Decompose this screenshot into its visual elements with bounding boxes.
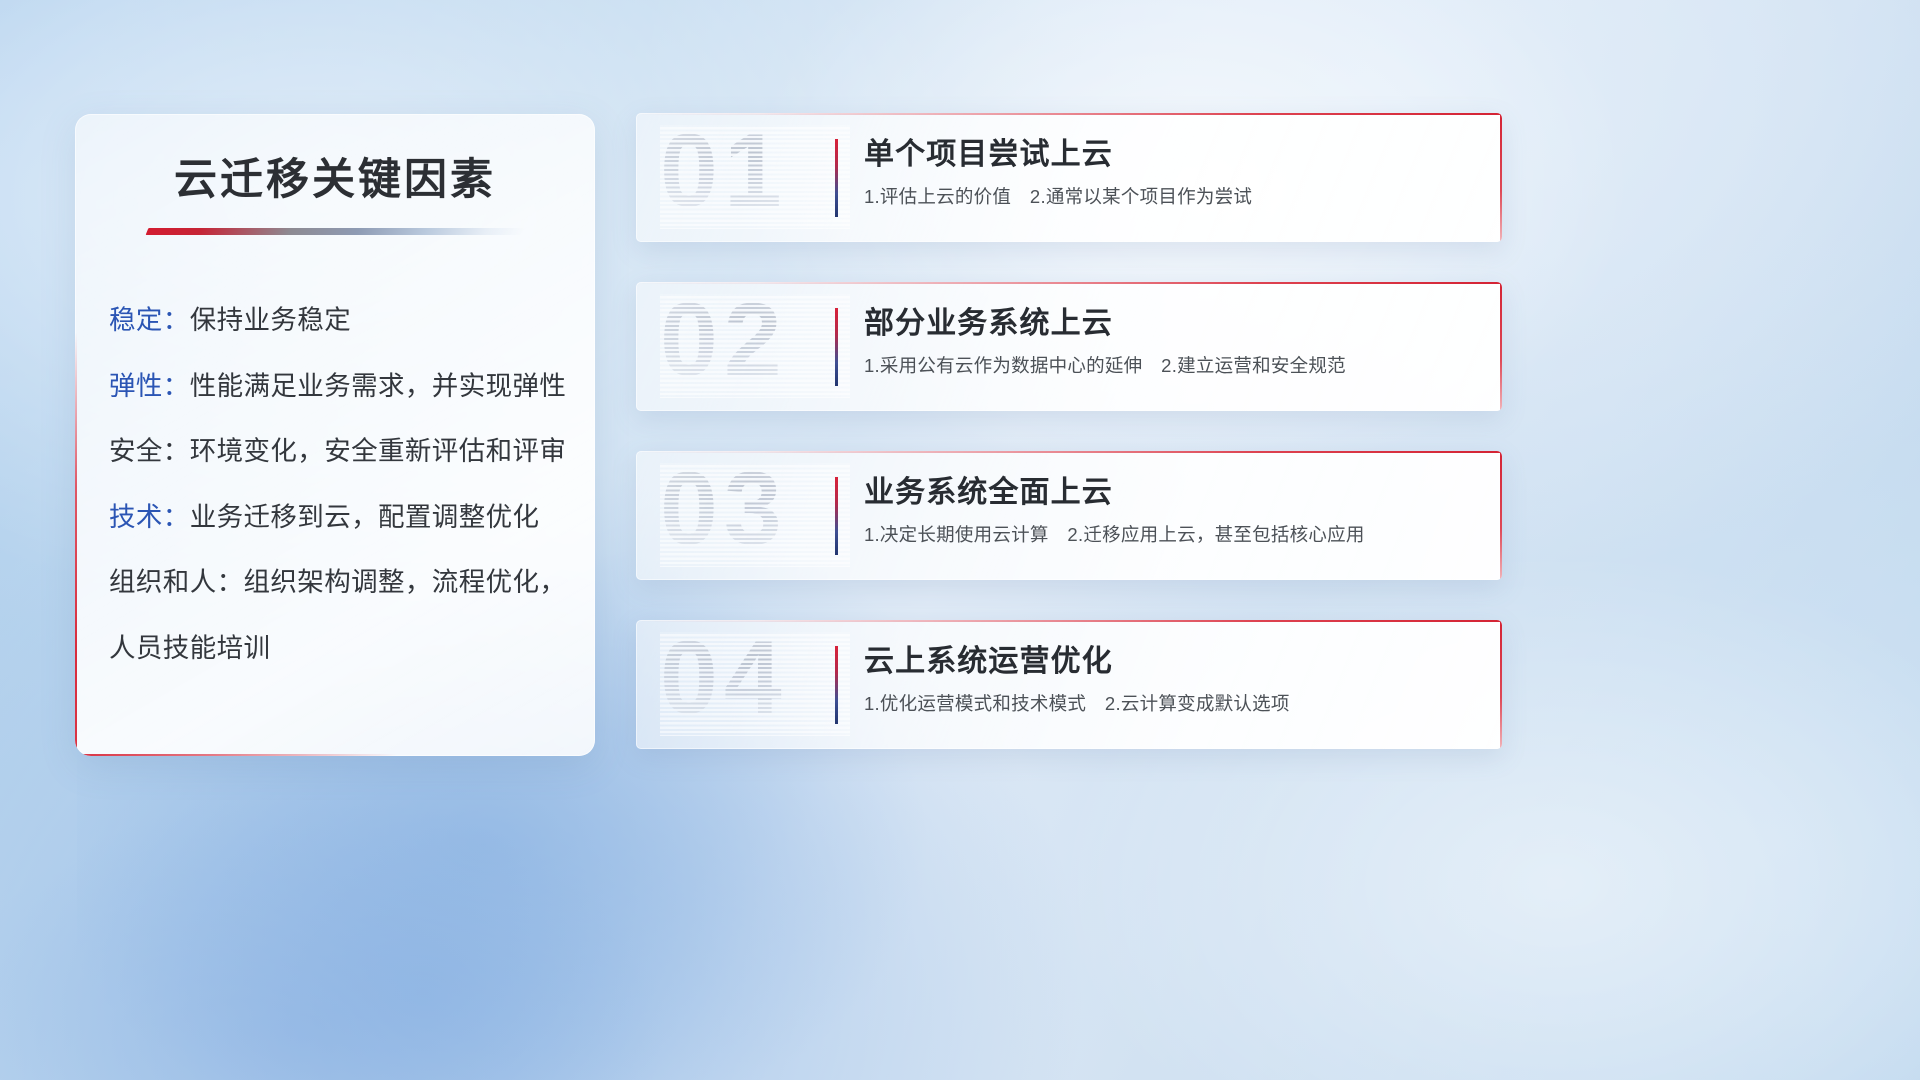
card-top-accent-rule xyxy=(636,113,1502,115)
card-top-accent-rule xyxy=(636,282,1502,284)
card-divider-bar xyxy=(835,139,838,217)
card-right-accent-rule xyxy=(1500,282,1502,411)
panel-left-accent-border xyxy=(75,114,77,756)
stage-card-01[interactable]: 01 单个项目尝试上云 1.评估上云的价值 2.通常以某个项目作为尝试 xyxy=(636,113,1502,242)
stage-card-03[interactable]: 03 业务系统全面上云 1.决定长期使用云计算 2.迁移应用上云，甚至包括核心应… xyxy=(636,451,1502,580)
key-factors-panel: 云迁移关键因素 稳定：保持业务稳定 弹性：性能满足业务需求，并实现弹性 安全：环… xyxy=(75,114,595,756)
card-subtitle: 1.评估上云的价值 2.通常以某个项目作为尝试 xyxy=(864,185,1468,208)
card-title: 单个项目尝试上云 xyxy=(864,138,1468,172)
factor-key: 安全： xyxy=(109,436,190,466)
card-body: 业务系统全面上云 1.决定长期使用云计算 2.迁移应用上云，甚至包括核心应用 xyxy=(864,476,1468,546)
title-underline-rule xyxy=(146,228,525,235)
card-top-accent-rule xyxy=(636,451,1502,453)
card-right-accent-rule xyxy=(1500,113,1502,242)
list-item: 安全：环境变化，安全重新评估和评审 xyxy=(109,438,595,465)
card-title: 业务系统全面上云 xyxy=(864,476,1468,510)
card-divider-bar xyxy=(835,308,838,386)
card-body: 单个项目尝试上云 1.评估上云的价值 2.通常以某个项目作为尝试 xyxy=(864,138,1468,208)
list-item: 组织和人：组织架构调整，流程优化， xyxy=(109,569,595,596)
stage-number-01: 01 xyxy=(660,125,850,229)
factor-key: 稳定： xyxy=(109,305,190,335)
card-title: 云上系统运营优化 xyxy=(864,645,1468,679)
card-right-accent-rule xyxy=(1500,451,1502,580)
factor-key: 技术： xyxy=(109,502,190,532)
card-subtitle: 1.决定长期使用云计算 2.迁移应用上云，甚至包括核心应用 xyxy=(864,523,1468,546)
card-title: 部分业务系统上云 xyxy=(864,307,1468,341)
stage-number-glyph: 04 xyxy=(660,632,788,730)
stage-number-04: 04 xyxy=(660,632,850,736)
factor-text: 组织架构调整，流程优化， xyxy=(244,567,567,597)
list-item: 技术：业务迁移到云，配置调整优化 xyxy=(109,504,595,531)
factor-list: 稳定：保持业务稳定 弹性：性能满足业务需求，并实现弹性 安全：环境变化，安全重新… xyxy=(109,307,595,661)
card-divider-bar xyxy=(835,646,838,724)
stage-number-glyph: 02 xyxy=(660,294,788,392)
stage-number-03: 03 xyxy=(660,463,850,567)
stage-number-glyph: 03 xyxy=(660,463,788,561)
stage-card-04[interactable]: 04 云上系统运营优化 1.优化运营模式和技术模式 2.云计算变成默认选项 xyxy=(636,620,1502,749)
card-body: 部分业务系统上云 1.采用公有云作为数据中心的延伸 2.建立运营和安全规范 xyxy=(864,307,1468,377)
stage-number-02: 02 xyxy=(660,294,850,398)
factor-text: 环境变化，安全重新评估和评审 xyxy=(190,436,567,466)
stage-number-glyph: 01 xyxy=(660,125,788,223)
card-subtitle: 1.优化运营模式和技术模式 2.云计算变成默认选项 xyxy=(864,692,1468,715)
factor-text: 性能满足业务需求，并实现弹性 xyxy=(190,371,567,401)
stage-card-02[interactable]: 02 部分业务系统上云 1.采用公有云作为数据中心的延伸 2.建立运营和安全规范 xyxy=(636,282,1502,411)
list-item: 人员技能培训 xyxy=(109,635,595,662)
factor-text: 人员技能培训 xyxy=(109,633,270,663)
factor-key: 弹性： xyxy=(109,371,190,401)
card-top-accent-rule xyxy=(636,620,1502,622)
card-subtitle: 1.采用公有云作为数据中心的延伸 2.建立运营和安全规范 xyxy=(864,354,1468,377)
list-item: 弹性：性能满足业务需求，并实现弹性 xyxy=(109,373,595,400)
factor-text: 业务迁移到云，配置调整优化 xyxy=(190,502,540,532)
card-body: 云上系统运营优化 1.优化运营模式和技术模式 2.云计算变成默认选项 xyxy=(864,645,1468,715)
card-right-accent-rule xyxy=(1500,620,1502,749)
card-divider-bar xyxy=(835,477,838,555)
factor-text: 保持业务稳定 xyxy=(190,305,351,335)
stage-card-list: 01 单个项目尝试上云 1.评估上云的价值 2.通常以某个项目作为尝试 02 部… xyxy=(636,113,1502,749)
page-title: 云迁移关键因素 xyxy=(75,159,595,202)
slide-stage: 云迁移关键因素 稳定：保持业务稳定 弹性：性能满足业务需求，并实现弹性 安全：环… xyxy=(0,0,1920,1080)
list-item: 稳定：保持业务稳定 xyxy=(109,307,595,334)
panel-bottom-accent-border xyxy=(75,754,595,756)
factor-key: 组织和人： xyxy=(109,567,244,597)
